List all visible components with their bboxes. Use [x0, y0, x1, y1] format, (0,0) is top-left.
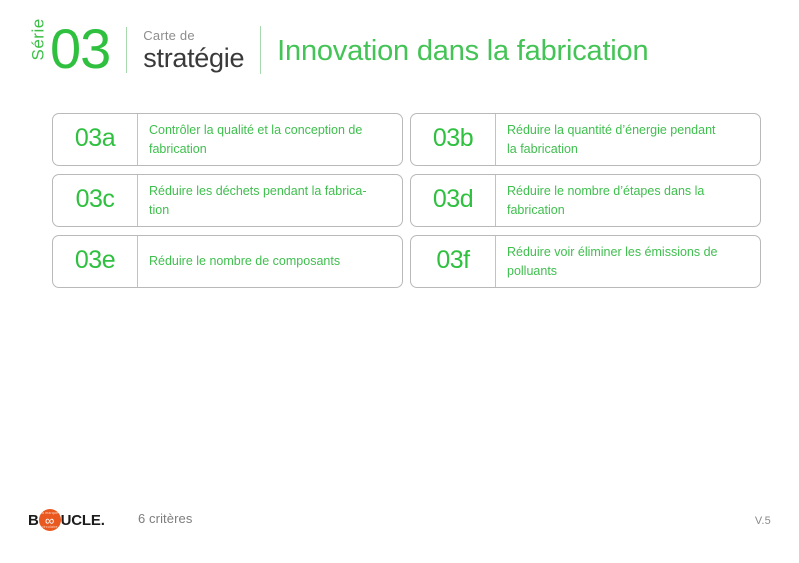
criteria-card[interactable]: 03b Réduire la quantité d’énergie pendan… — [410, 113, 761, 166]
page-title: Innovation dans la fabrication — [277, 37, 648, 66]
criteria-line-2: fabrication — [507, 201, 704, 219]
card-type-block: Carte de stratégie — [143, 29, 244, 72]
criteria-description: Contrôler la qualité et la conception de… — [138, 114, 402, 165]
criteria-card[interactable]: 03e Réduire le nombre de composants — [52, 235, 403, 288]
logo-text-prefix: B — [28, 513, 39, 528]
criteria-description: Réduire le nombre de composants — [138, 236, 402, 287]
criteria-line-1: Réduire le nombre de composants — [149, 252, 340, 270]
criteria-description: Réduire la quantité d’énergie pendant la… — [496, 114, 760, 165]
serie-block: Série 03 — [28, 19, 110, 81]
criteria-code: 03f — [411, 236, 496, 287]
criteria-code: 03e — [53, 236, 138, 287]
criteria-line-1: Contrôler la qualité et la conception de — [149, 121, 362, 139]
version-label: V.5 — [755, 515, 771, 527]
logo-circle-icon: la marque ∞ circulaire — [39, 509, 61, 531]
criteria-card[interactable]: 03f Réduire voir éliminer les émissions … — [410, 235, 761, 288]
criteria-line-1: Réduire le nombre d’étapes dans la — [507, 182, 704, 200]
card-type: stratégie — [143, 45, 244, 72]
boucle-logo: B la marque ∞ circulaire UCLE . — [28, 509, 105, 531]
criteria-line-2: tion — [149, 201, 367, 219]
serie-number: 03 — [50, 21, 110, 77]
page-header: Série 03 Carte de stratégie Innovation d… — [0, 0, 799, 100]
logo-text-suffix: UCLE — [61, 513, 101, 528]
criteria-line-2: la fabrication — [507, 140, 716, 158]
criteria-line-2: polluants — [507, 262, 718, 280]
criteria-description: Réduire les déchets pendant la fabrica- … — [138, 175, 402, 226]
criteria-line-1: Réduire voir éliminer les émissions de — [507, 243, 718, 261]
criteria-line-1: Réduire les déchets pendant la fabrica- — [149, 182, 367, 200]
header-divider-1 — [126, 27, 127, 73]
criteria-code: 03d — [411, 175, 496, 226]
criteria-code: 03b — [411, 114, 496, 165]
logo-trademark-dot: . — [101, 513, 105, 528]
criteria-code: 03c — [53, 175, 138, 226]
criteria-card-grid: 03a Contrôler la qualité et la conceptio… — [52, 113, 762, 288]
criteria-count: 6 critères — [138, 511, 192, 526]
logo-arc-bottom-label: circulaire — [39, 525, 61, 529]
serie-label: Série — [30, 40, 47, 60]
header-divider-2 — [260, 26, 261, 74]
criteria-code: 03a — [53, 114, 138, 165]
card-kicker: Carte de — [143, 29, 244, 42]
criteria-line-2: fabrication — [149, 140, 362, 158]
criteria-card[interactable]: 03c Réduire les déchets pendant la fabri… — [52, 174, 403, 227]
criteria-line-1: Réduire la quantité d’énergie pendant — [507, 121, 716, 139]
criteria-card[interactable]: 03a Contrôler la qualité et la conceptio… — [52, 113, 403, 166]
criteria-card[interactable]: 03d Réduire le nombre d’étapes dans la f… — [410, 174, 761, 227]
logo-arc-top-label: la marque — [39, 511, 61, 515]
criteria-description: Réduire voir éliminer les émissions de p… — [496, 236, 760, 287]
criteria-description: Réduire le nombre d’étapes dans la fabri… — [496, 175, 760, 226]
page-footer: B la marque ∞ circulaire UCLE . 6 critèr… — [0, 503, 799, 563]
